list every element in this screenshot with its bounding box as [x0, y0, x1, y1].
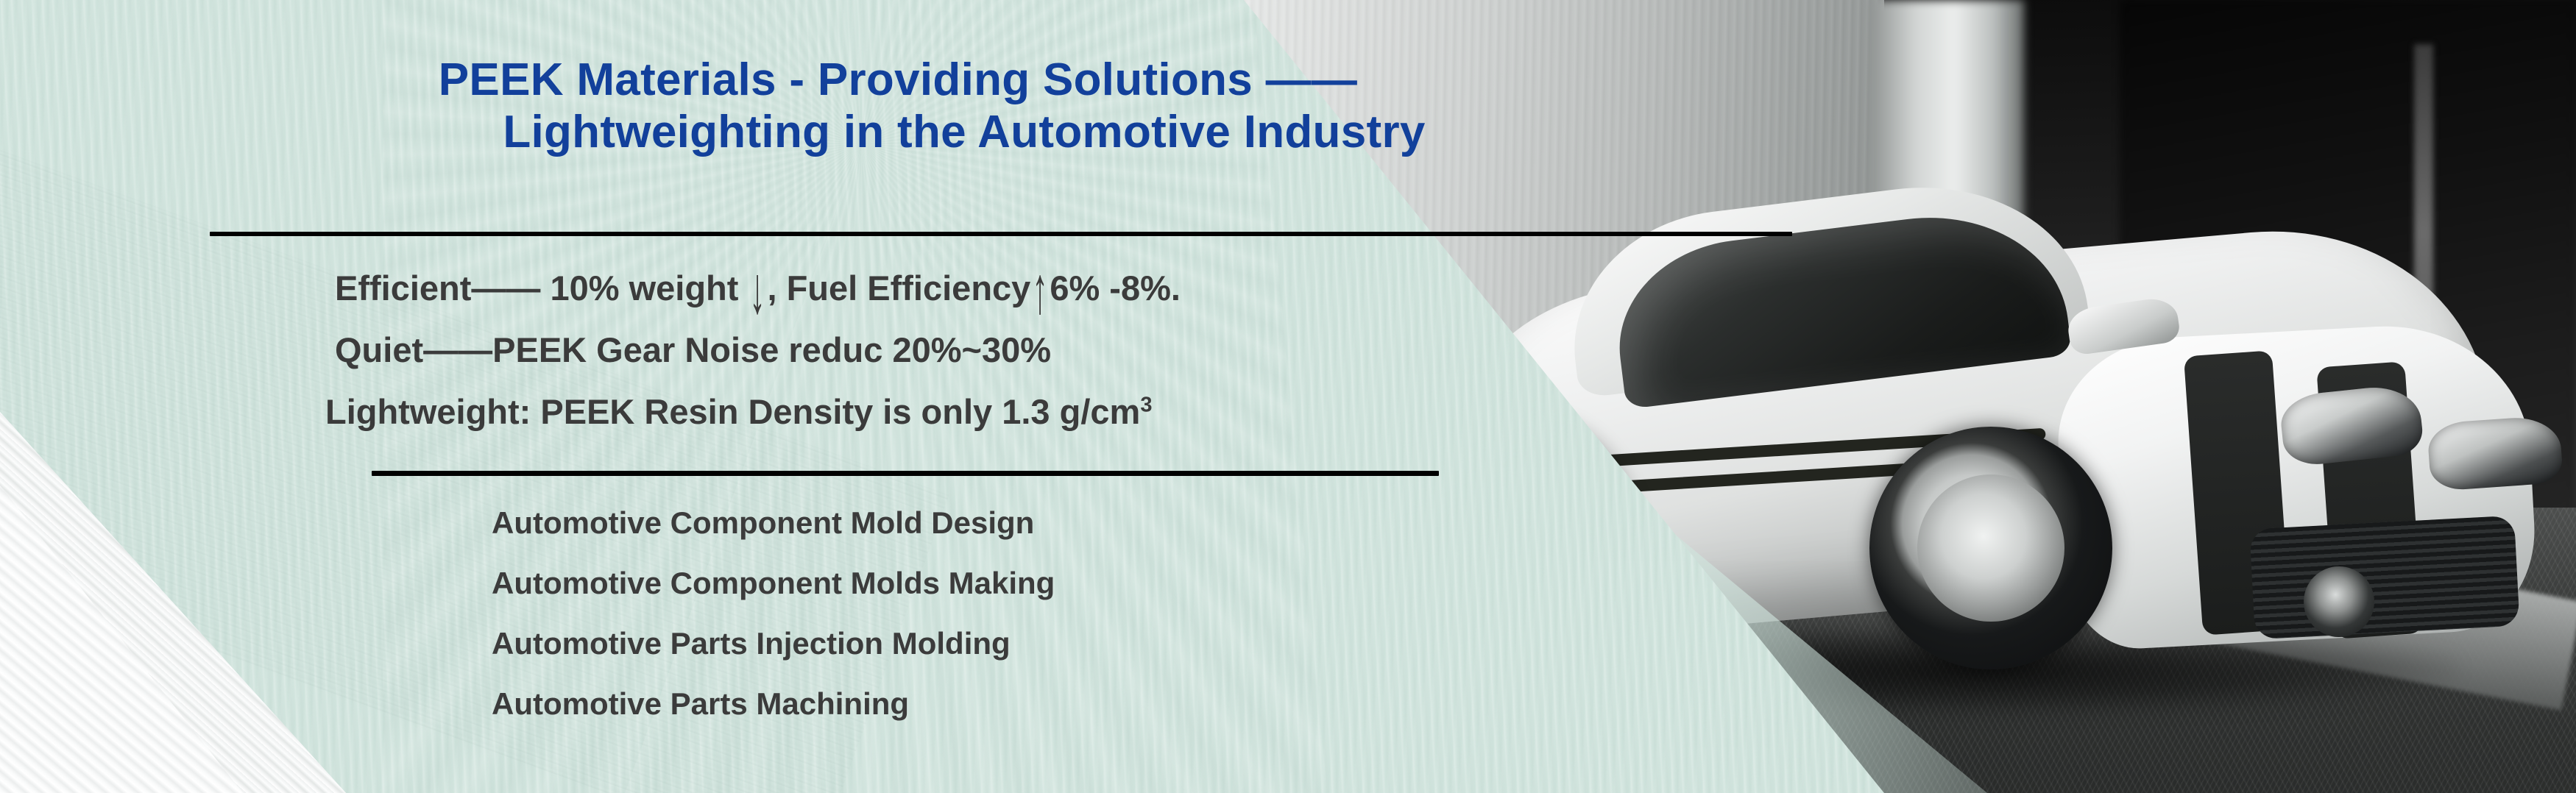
feature-lightweight: Lightweight: PEEK Resin Density is only …	[325, 394, 1586, 429]
peek-automotive-banner: PEEK Materials - Providing Solutions —— …	[0, 0, 2576, 793]
list-item: Automotive Component Molds Making	[492, 568, 1055, 599]
services-list: Automotive Component Mold Design Automot…	[492, 508, 1055, 719]
divider-top	[210, 232, 1792, 236]
feature-efficient-prefix: Efficient—— 10% weight	[335, 269, 748, 307]
feature-efficient: Efficient—— 10% weight ↓, Fuel Efficienc…	[335, 271, 1586, 305]
title-line-2: Lightweighting in the Automotive Industr…	[0, 107, 1796, 159]
feature-lightweight-superscript: 3	[1140, 393, 1152, 416]
feature-efficient-suffix: 6% -8%.	[1050, 269, 1181, 307]
divider-middle	[372, 471, 1439, 476]
feature-quiet: Quiet——PEEK Gear Noise reduc 20%~30%	[335, 333, 1586, 367]
feature-quiet-text: Quiet——PEEK Gear Noise reduc 20%~30%	[335, 330, 1051, 369]
banner-title: PEEK Materials - Providing Solutions —— …	[0, 54, 1796, 158]
list-item: Automotive Parts Machining	[492, 689, 1055, 719]
feature-list: Efficient—— 10% weight ↓, Fuel Efficienc…	[335, 271, 1586, 429]
title-line-1: PEEK Materials - Providing Solutions ——	[0, 54, 1796, 107]
feature-lightweight-text: Lightweight: PEEK Resin Density is only …	[325, 392, 1140, 431]
feature-efficient-middle: , Fuel Efficiency	[767, 269, 1030, 307]
list-item: Automotive Component Mold Design	[492, 508, 1055, 538]
banner-content: PEEK Materials - Providing Solutions —— …	[0, 0, 2576, 793]
list-item: Automotive Parts Injection Molding	[492, 628, 1055, 659]
